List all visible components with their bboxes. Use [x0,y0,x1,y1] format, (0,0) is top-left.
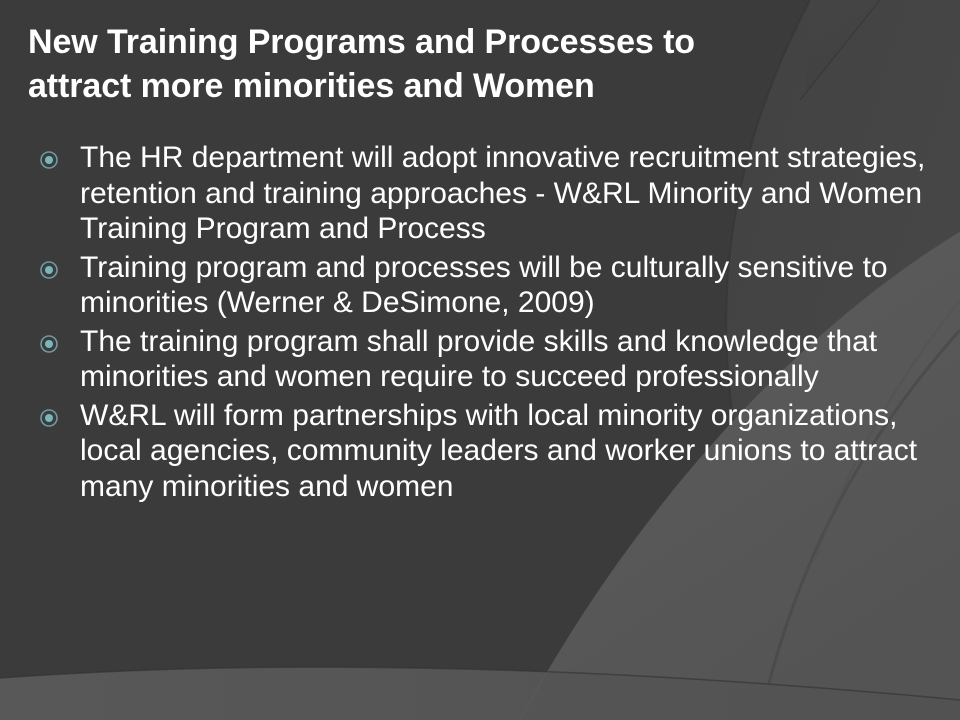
bullet-list: The HR department will adopt innovative … [34,140,939,507]
list-item-label: The training program shall provide skill… [80,324,939,395]
list-item-label: The HR department will adopt innovative … [80,140,939,247]
list-item-label: W&RL will form partnerships with local m… [80,398,939,505]
list-item: Training program and processes will be c… [34,250,939,321]
list-item: W&RL will form partnerships with local m… [34,398,939,505]
target-bullet-icon [40,261,58,279]
target-bullet-icon [40,151,58,169]
list-item: The HR department will adopt innovative … [34,140,939,247]
slide-content: New Training Programs and Processes to a… [0,0,960,720]
target-bullet-icon [40,409,58,427]
list-item: The training program shall provide skill… [34,324,939,395]
list-item-label: Training program and processes will be c… [80,250,939,321]
page-title: New Training Programs and Processes to a… [28,20,888,108]
target-bullet-icon [40,335,58,353]
slide: New Training Programs and Processes to a… [0,0,960,720]
